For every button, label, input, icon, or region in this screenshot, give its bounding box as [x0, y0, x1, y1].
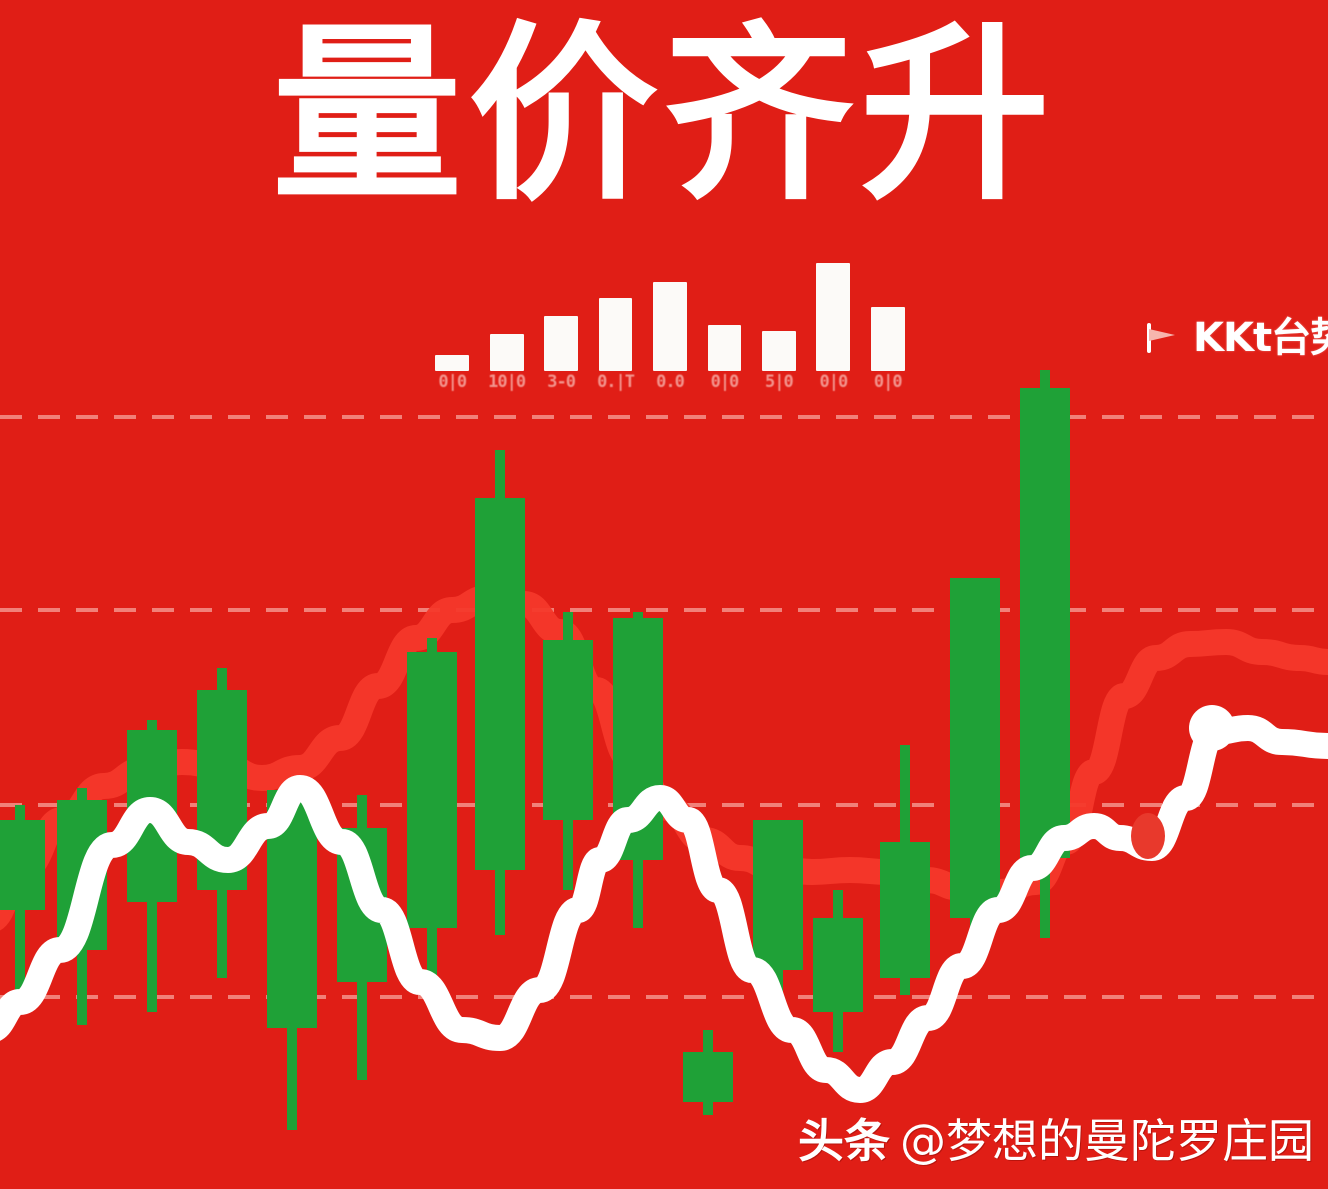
volume-bar [708, 325, 742, 371]
volume-bar [544, 316, 578, 371]
chart-svg [0, 390, 1328, 1120]
volume-bar-label: 0.|T [588, 372, 642, 392]
flag-icon [1145, 323, 1179, 353]
volume-bar [871, 307, 905, 371]
volume-bar-label: 3-0 [534, 372, 588, 392]
volume-bar-label: 0|0 [861, 372, 915, 392]
candle-body [753, 820, 803, 970]
candle-body [543, 640, 593, 820]
candlestick-chart [0, 390, 1328, 1120]
volume-bar-label: 0|0 [697, 372, 751, 392]
candle-body [0, 820, 45, 910]
volume-bar [435, 355, 469, 371]
volume-bar-label: 0.0 [643, 372, 697, 392]
volume-bar-chart: 0|010|03-00.|T0.00|05|00|00|0 [425, 258, 915, 403]
volume-bar-label: 5|0 [752, 372, 806, 392]
candle-body [475, 498, 525, 870]
brand-name: KKt台势 [1193, 318, 1328, 358]
candle-body [950, 578, 1000, 918]
platform-name: 头条 [798, 1117, 890, 1165]
candle-body [683, 1052, 733, 1102]
brand-watermark: KKt台势 [1145, 310, 1328, 366]
volume-bar-label: 10|0 [479, 372, 533, 392]
candle-body [813, 918, 863, 1012]
candle-body [880, 842, 930, 978]
white-dot-marker [1189, 705, 1235, 751]
volume-bar [653, 282, 687, 371]
candle-body [407, 652, 457, 928]
volume-bar [816, 263, 850, 371]
author-handle: @梦想的曼陀罗庄园 [900, 1117, 1314, 1165]
volume-bar-label: 0|0 [806, 372, 860, 392]
red-dot-marker [1131, 813, 1165, 859]
volume-bar [762, 331, 796, 371]
page-title: 量价齐升 [0, 16, 1328, 216]
volume-bar [599, 298, 633, 371]
volume-bar [490, 334, 524, 371]
poster-canvas: 量价齐升 0|010|03-00.|T0.00|05|00|00|0 KKt台势… [0, 0, 1328, 1189]
author-watermark: 头条 @梦想的曼陀罗庄园 [798, 1117, 1314, 1165]
candle-body [1020, 388, 1070, 858]
volume-bar-label: 0|0 [425, 372, 479, 392]
